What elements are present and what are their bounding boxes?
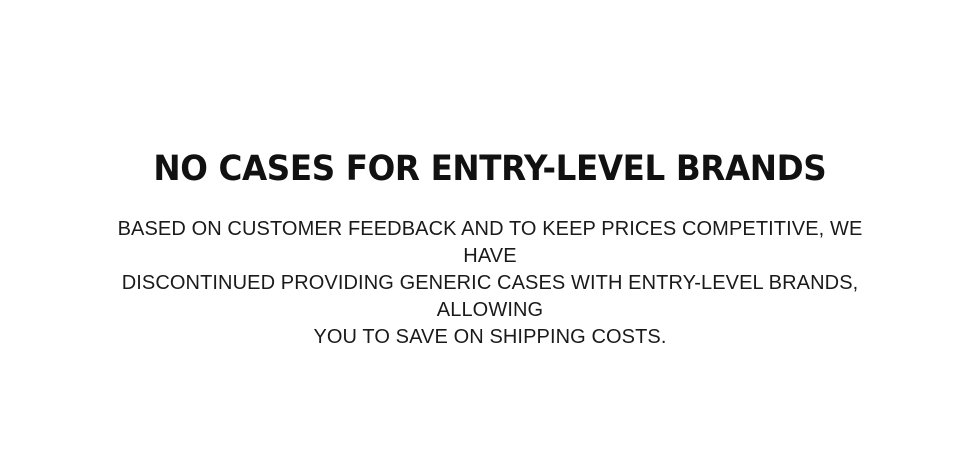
promo-body-line-1: BASED ON CUSTOMER FEEDBACK AND TO KEEP P… bbox=[90, 216, 890, 270]
promo-heading: NO CASES FOR ENTRY-LEVEL BRANDS bbox=[153, 148, 826, 190]
promo-body-line-2: DISCONTINUED PROVIDING GENERIC CASES WIT… bbox=[90, 270, 890, 324]
promo-body-text: BASED ON CUSTOMER FEEDBACK AND TO KEEP P… bbox=[90, 216, 890, 351]
promo-banner: NO CASES FOR ENTRY-LEVEL BRANDS BASED ON… bbox=[0, 0, 980, 450]
promo-body-line-3: YOU TO SAVE ON SHIPPING COSTS. bbox=[90, 324, 890, 351]
promo-content-wrapper: NO CASES FOR ENTRY-LEVEL BRANDS BASED ON… bbox=[0, 0, 980, 351]
